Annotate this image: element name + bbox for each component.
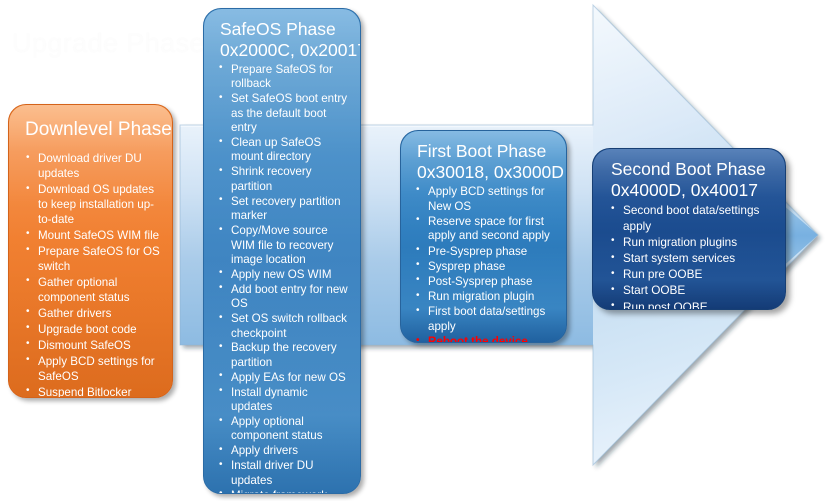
list-item: Prepare SafeOS for rollback	[216, 63, 350, 92]
list-item: Copy/Move source WIM file to recovery im…	[216, 224, 350, 267]
phase-list-downlevel: Download driver DU updates Download OS u…	[21, 152, 162, 398]
upgrade-phases-diagram: Upgrade Phases	[0, 0, 825, 501]
list-item: Set OS switch rollback checkpoint	[216, 312, 350, 341]
phase-title-safeos: SafeOS Phase	[220, 19, 350, 39]
list-item: Apply new OS WIM	[216, 268, 350, 282]
list-item: Migrate framework (Full)	[216, 489, 350, 494]
list-item: Post-Sysprep phase	[413, 275, 556, 290]
phase-list-second-boot: Second boot data/settings apply Run migr…	[607, 203, 775, 310]
list-item: Run pre OOBE	[607, 267, 775, 283]
list-item: Gather drivers	[21, 307, 162, 322]
list-item: Set recovery partition marker	[216, 195, 350, 224]
phase-box-first-boot-inner: First Boot Phase 0x30018, 0x3000D Apply …	[401, 131, 566, 342]
list-item: Prepare SafeOS for OS switch	[21, 245, 162, 275]
phase-list-safeos: Prepare SafeOS for rollback Set SafeOS b…	[216, 63, 350, 494]
list-item: Sysprep phase	[413, 260, 556, 275]
phase-title-second-boot: Second Boot Phase	[611, 159, 775, 179]
list-item: Install driver DU updates	[216, 459, 350, 488]
list-item: Gather optional component status	[21, 276, 162, 306]
phase-box-downlevel-inner: Downlevel Phase Download driver DU updat…	[9, 105, 172, 397]
list-item: Install dynamic updates	[216, 386, 350, 415]
phase-title-downlevel: Downlevel Phase	[25, 119, 162, 141]
list-item: Backup the recovery partition	[216, 341, 350, 370]
phase-code-first-boot: 0x30018, 0x3000D	[417, 162, 556, 182]
list-item: Apply drivers	[216, 444, 350, 458]
list-item: Shrink recovery partition	[216, 165, 350, 194]
list-item: Dismount SafeOS	[21, 339, 162, 354]
list-item: Upgrade boot code	[21, 323, 162, 338]
list-item: Run migration plugins	[607, 235, 775, 251]
list-item: First boot data/settings apply	[413, 305, 556, 334]
list-item: Second boot data/settings apply	[607, 203, 775, 234]
phase-list-first-boot: Apply BCD settings for New OS Reserve sp…	[413, 185, 556, 343]
phase-code-second-boot: 0x4000D, 0x40017	[611, 180, 775, 200]
phase-box-safeos[interactable]: SafeOS Phase 0x2000C, 0x20017 Prepare Sa…	[203, 8, 361, 494]
phase-box-downlevel[interactable]: Downlevel Phase Download driver DU updat…	[8, 104, 173, 398]
list-item: Reserve space for first apply and second…	[413, 215, 556, 244]
phase-box-first-boot[interactable]: First Boot Phase 0x30018, 0x3000D Apply …	[400, 130, 567, 343]
phase-box-second-boot[interactable]: Second Boot Phase 0x4000D, 0x40017 Secon…	[592, 148, 786, 310]
list-item: Download OS updates to keep installation…	[21, 183, 162, 228]
list-item: Suspend Bitlocker	[21, 386, 162, 398]
list-item-reboot: Reboot the device	[413, 335, 556, 343]
list-item: Run post OOBE	[607, 300, 775, 310]
list-item: Apply BCD settings for SafeOS	[21, 355, 162, 385]
list-item: Mount SafeOS WIM file	[21, 229, 162, 244]
list-item: Clean up SafeOS mount directory	[216, 136, 350, 165]
phase-code-safeos: 0x2000C, 0x20017	[220, 40, 350, 60]
phase-box-second-boot-inner: Second Boot Phase 0x4000D, 0x40017 Secon…	[593, 149, 785, 309]
list-item: Start system services	[607, 251, 775, 267]
list-item: Apply BCD settings for New OS	[413, 185, 556, 214]
list-item: Pre-Sysprep phase	[413, 245, 556, 260]
list-item: Start OOBE	[607, 283, 775, 299]
list-item: Apply optional component status	[216, 415, 350, 444]
list-item: Apply EAs for new OS	[216, 371, 350, 385]
phase-box-safeos-inner: SafeOS Phase 0x2000C, 0x20017 Prepare Sa…	[204, 9, 360, 493]
list-item: Run migration plugin	[413, 290, 556, 305]
list-item: Download driver DU updates	[21, 152, 162, 182]
list-item: Set SafeOS boot entry as the default boo…	[216, 92, 350, 135]
phase-title-first-boot: First Boot Phase	[417, 141, 556, 161]
list-item: Add boot entry for new OS	[216, 283, 350, 312]
